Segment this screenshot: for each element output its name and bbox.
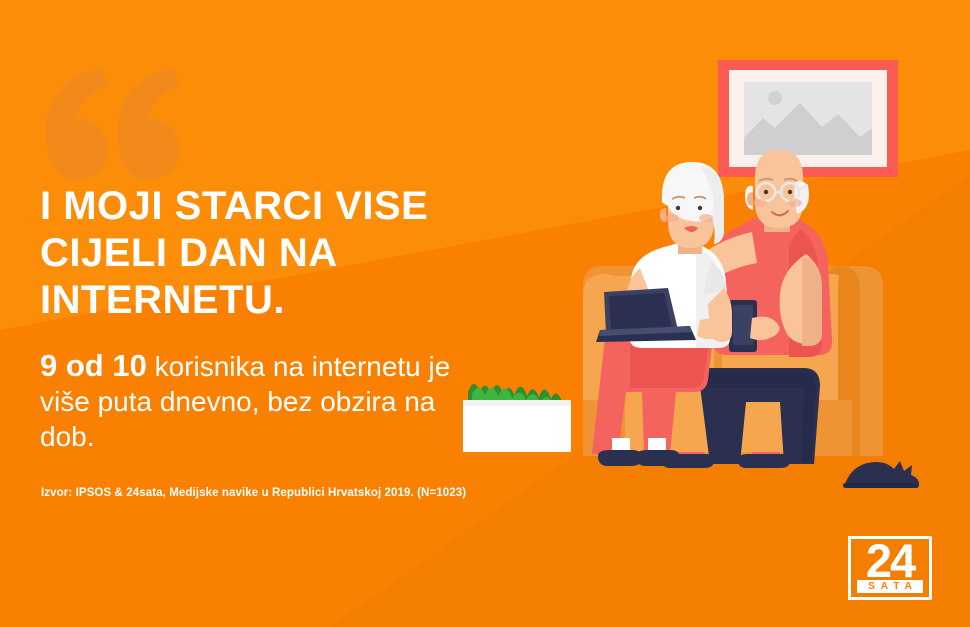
headline-line-1: I MOJI STARCI VISE [40, 183, 470, 230]
infographic-poster: I MOJI STARCI VISE CIJELI DAN NA INTERNE… [0, 0, 970, 627]
brand-logo[interactable]: 24 SATA [848, 536, 932, 600]
sleeping-cat [843, 461, 919, 488]
framed-picture [718, 60, 898, 177]
source-note: Izvor: IPSOS & 24sata, Medijske navike u… [41, 487, 466, 499]
logo-number: 24 [851, 536, 929, 586]
subheading: 9 od 10 korisnika na internetu je više p… [40, 348, 460, 454]
planter-box [463, 384, 571, 452]
headline-line-2: CIJELI DAN NA [40, 230, 470, 277]
subheading-lead: 9 od 10 [40, 348, 147, 383]
page-title: I MOJI STARCI VISE CIJELI DAN NA INTERNE… [40, 183, 470, 324]
logo-wordmark: SATA [857, 580, 923, 593]
headline-line-3: INTERNETU. [40, 277, 470, 324]
